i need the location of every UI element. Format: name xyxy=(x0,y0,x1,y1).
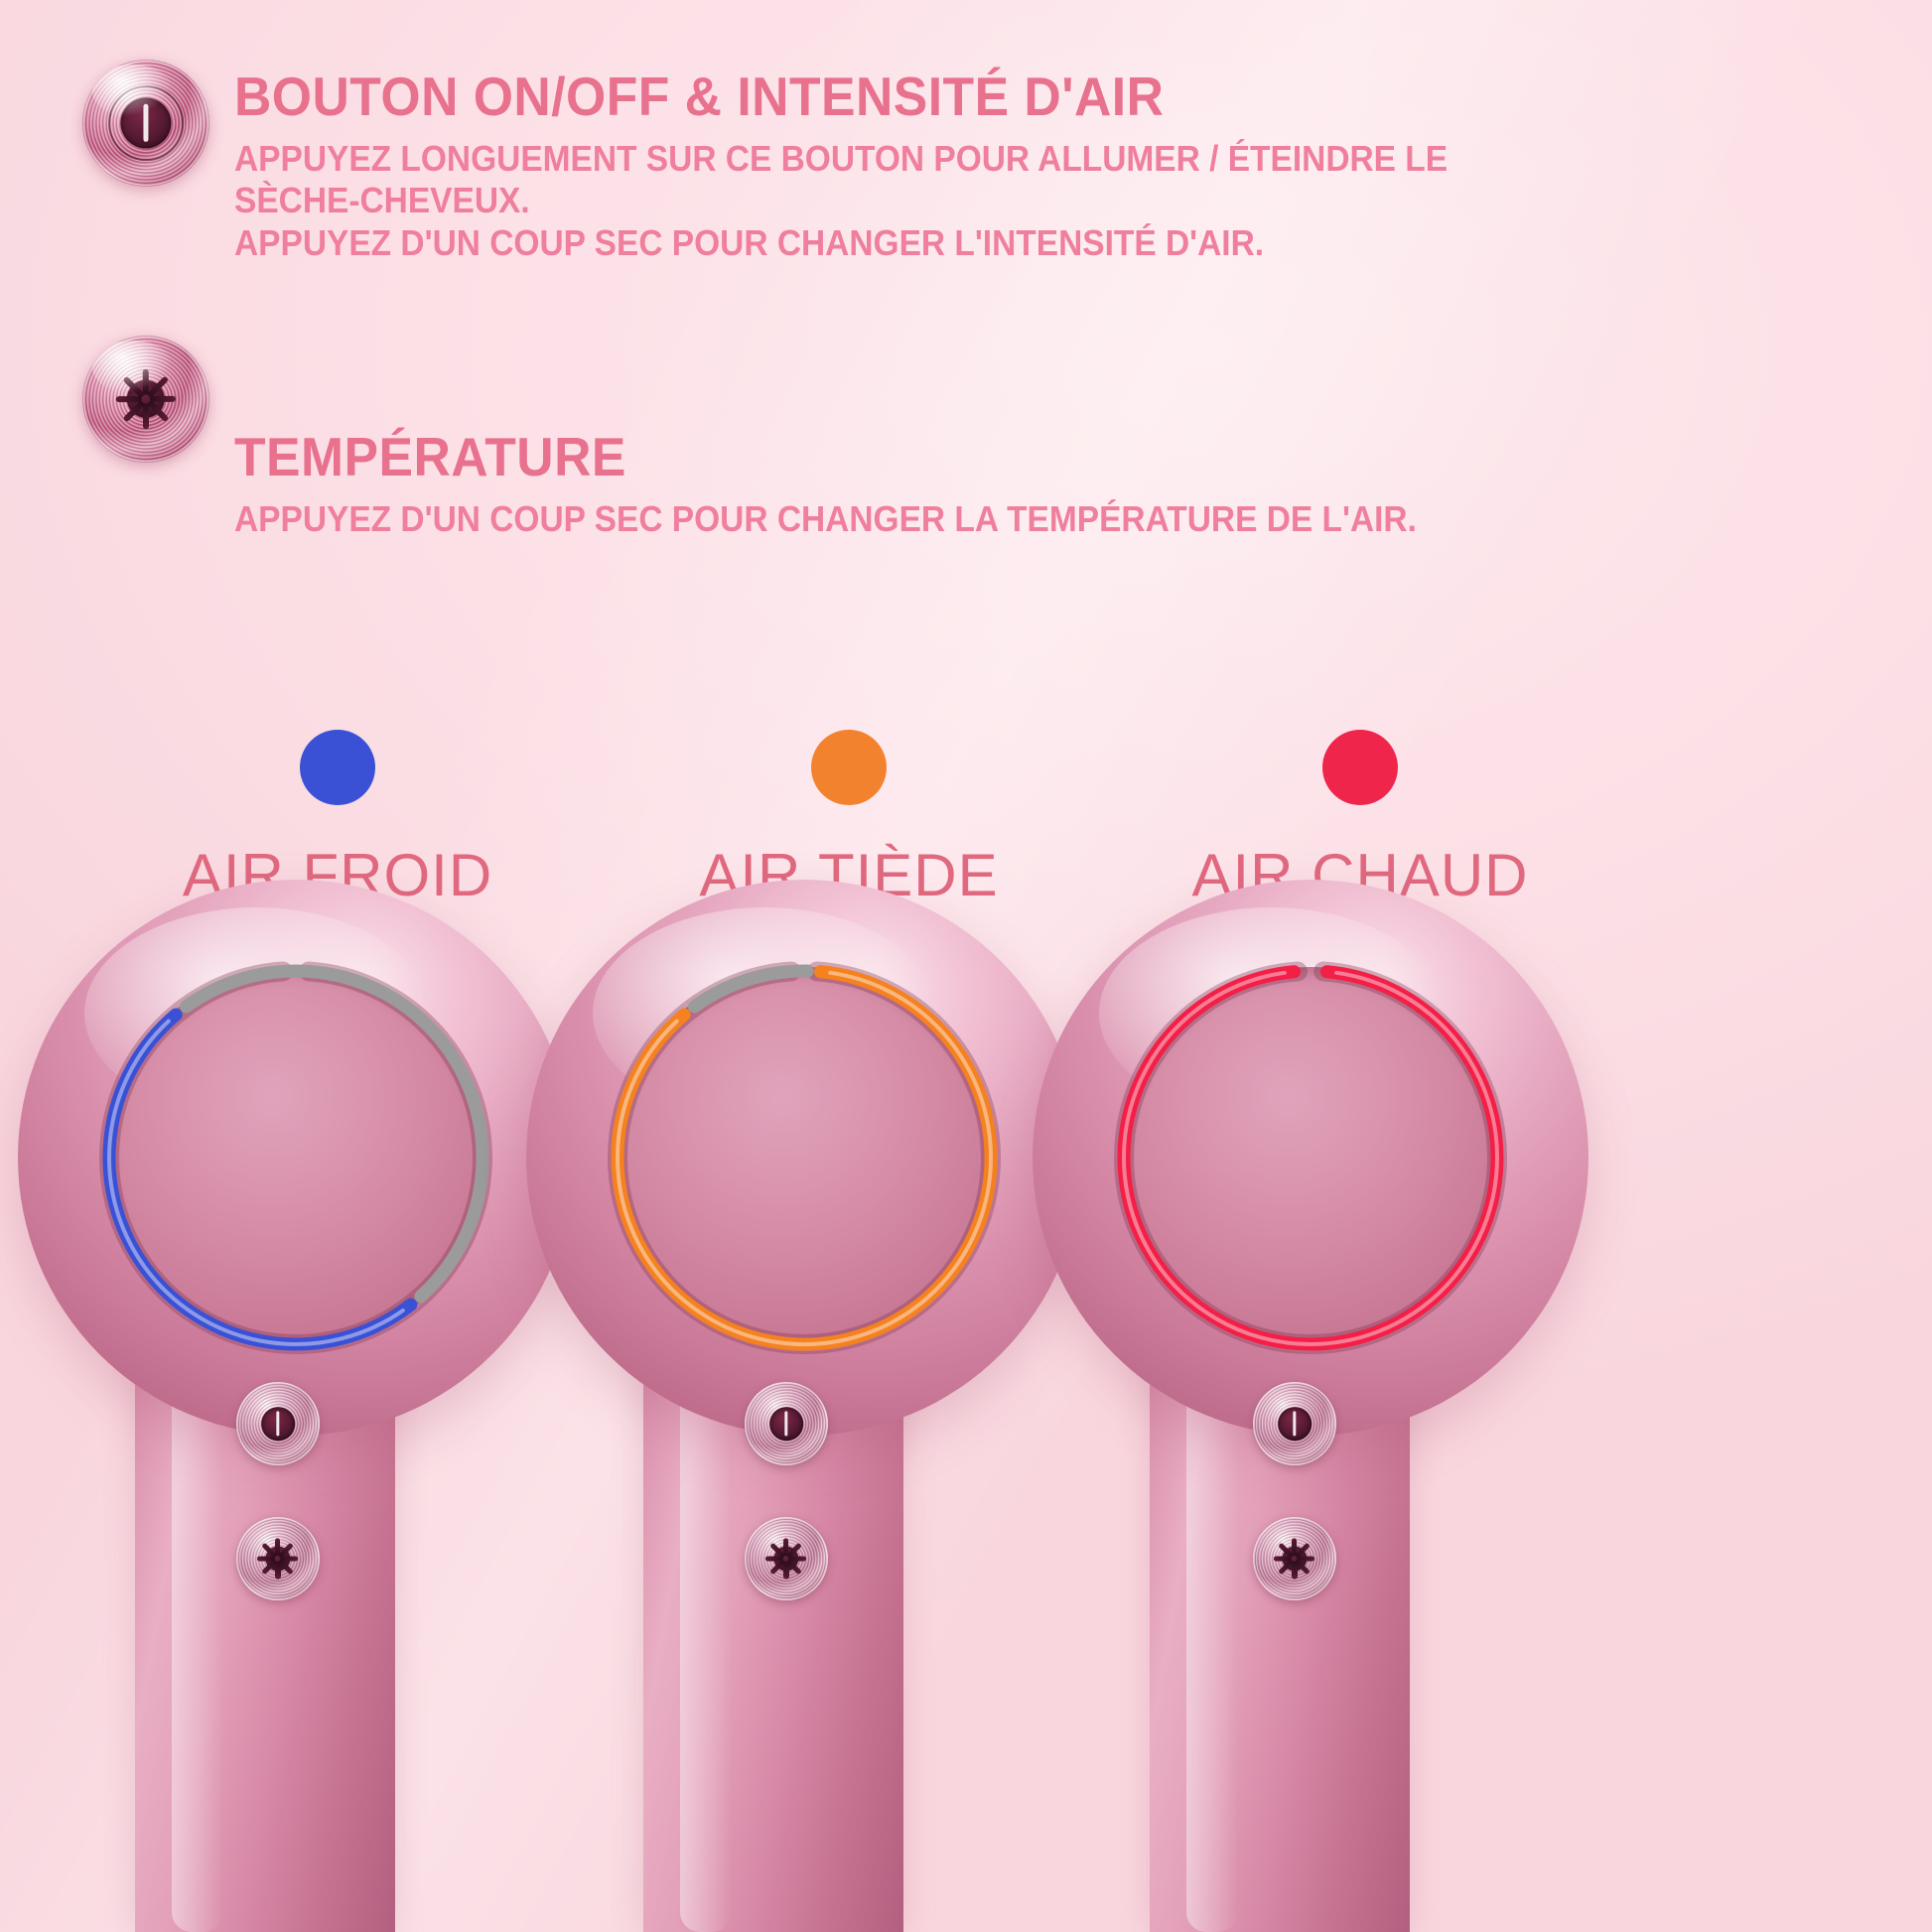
section-temperature-heading: TEMPÉRATURE xyxy=(234,430,1430,484)
section-power-text: BOUTON ON/OFF & INTENSITÉ D'AIR APPUYEZ … xyxy=(234,69,1539,264)
temperature-button[interactable] xyxy=(1253,1517,1336,1600)
sun-glyph xyxy=(745,1517,828,1600)
temperature-button[interactable] xyxy=(745,1517,828,1600)
led-arc-segment xyxy=(109,1022,403,1344)
sun-glyph xyxy=(1253,1517,1336,1600)
power-button[interactable] xyxy=(236,1382,320,1465)
warm-air-dot xyxy=(811,730,887,805)
led-indicator-ring-cold xyxy=(71,933,520,1382)
cold-air-dot xyxy=(300,730,375,805)
power-glyph xyxy=(236,1382,320,1465)
sun-ray xyxy=(150,396,176,402)
power-button[interactable] xyxy=(1253,1382,1336,1465)
led-arc-segment xyxy=(109,1015,411,1344)
sun-ray xyxy=(116,396,142,402)
power-bar xyxy=(276,1411,279,1436)
sun-glyph xyxy=(236,1517,320,1600)
temperature-sun-icon xyxy=(82,336,209,463)
hot-air-dot xyxy=(1322,730,1398,805)
power-glyph xyxy=(745,1382,828,1465)
hairdryer-hot xyxy=(1033,880,1648,1932)
power-bar xyxy=(784,1411,787,1436)
infographic-canvas: BOUTON ON/OFF & INTENSITÉ D'AIR APPUYEZ … xyxy=(0,0,1932,1932)
section-temperature: TEMPÉRATURE APPUYEZ D'UN COUP SEC POUR C… xyxy=(234,430,1506,540)
knob-gloss xyxy=(92,341,174,394)
led-arc-segment xyxy=(187,971,483,1297)
power-bar xyxy=(1293,1411,1296,1436)
led-indicator-ring-hot xyxy=(1086,933,1535,1382)
temperature-button[interactable] xyxy=(236,1517,320,1600)
power-button-icon xyxy=(82,60,209,187)
section-temperature-body: APPUYEZ D'UN COUP SEC POUR CHANGER LA TE… xyxy=(234,498,1506,540)
knob-gloss xyxy=(92,65,174,118)
section-power-body-line-1: APPUYEZ LONGUEMENT SUR CE BOUTON POUR AL… xyxy=(234,138,1448,180)
power-glyph xyxy=(1253,1382,1336,1465)
section-power-body-line-2: SÈCHE-CHEVEUX. xyxy=(234,180,1448,221)
section-power-body: APPUYEZ LONGUEMENT SUR CE BOUTON POUR AL… xyxy=(234,138,1539,264)
section-power-body-line-3: APPUYEZ D'UN COUP SEC POUR CHANGER L'INT… xyxy=(234,222,1448,264)
section-power: BOUTON ON/OFF & INTENSITÉ D'AIR APPUYEZ … xyxy=(234,69,1539,264)
section-power-heading: BOUTON ON/OFF & INTENSITÉ D'AIR xyxy=(234,69,1460,124)
led-indicator-ring-warm xyxy=(580,933,1029,1382)
power-button[interactable] xyxy=(745,1382,828,1465)
section-temperature-body-line-1: APPUYEZ D'UN COUP SEC POUR CHANGER LA TE… xyxy=(234,498,1417,540)
sun-ray xyxy=(143,403,149,429)
section-temperature-text: TEMPÉRATURE APPUYEZ D'UN COUP SEC POUR C… xyxy=(234,430,1506,540)
